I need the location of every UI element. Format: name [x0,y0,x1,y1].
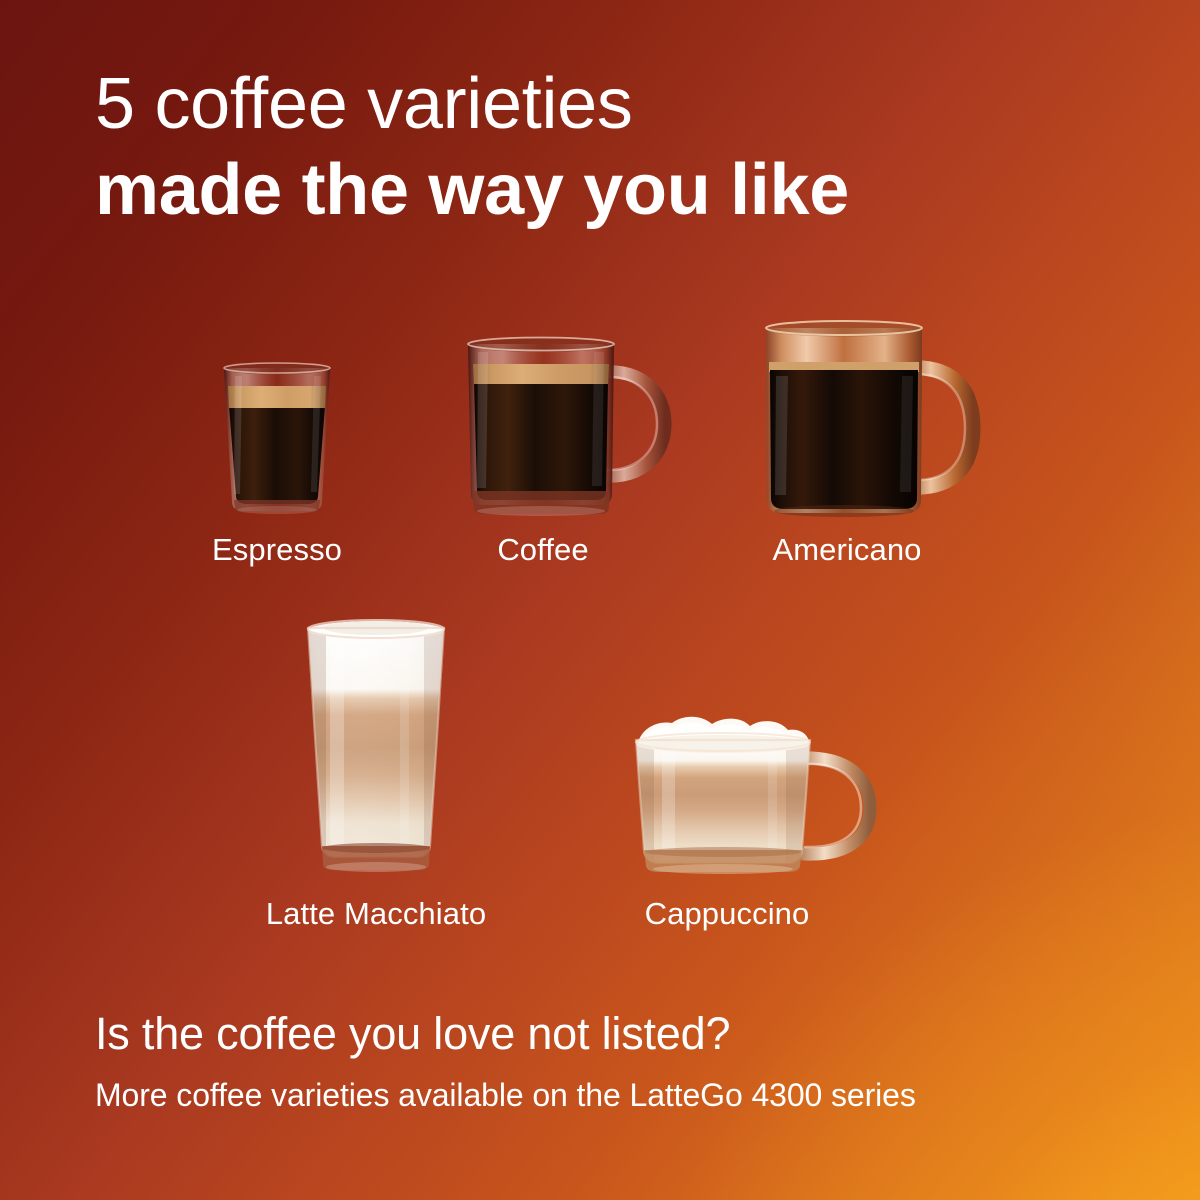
label-americano: Americano [748,532,946,568]
drink-coffee [462,336,667,522]
cappuccino-cup-icon [628,714,876,876]
label-latte-macchiato: Latte Macchiato [230,896,522,932]
coffee-mug-icon [462,336,667,522]
label-espresso: Espresso [206,532,348,568]
footer-question: Is the coffee you love not listed? [95,1010,1135,1057]
espresso-glass-icon [218,362,336,514]
headline-line-1: 5 coffee varieties [95,68,1125,140]
americano-mug-icon [760,320,975,522]
label-cappuccino: Cappuccino [614,896,840,932]
drink-latte-macchiato [300,618,452,876]
drink-americano [760,320,975,522]
latte-glass-icon [300,618,452,876]
label-coffee: Coffee [478,532,608,568]
poster-canvas: 5 coffee varieties made the way you like [0,0,1200,1200]
page-title: 5 coffee varieties made the way you like [95,68,1125,226]
drink-cappuccino [628,714,876,876]
headline-line-2: made the way you like [95,154,1125,226]
drink-espresso [218,362,336,514]
footer-subtext: More coffee varieties available on the L… [95,1078,1135,1113]
